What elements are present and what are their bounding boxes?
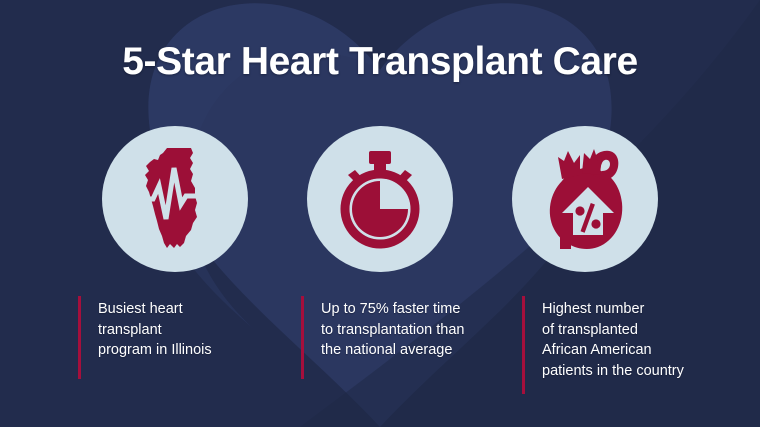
icon-circle-row	[0, 126, 760, 272]
anatomical-heart-percent-arrow-icon	[512, 126, 658, 272]
stat-icon-circle-african-american-patients	[512, 126, 658, 272]
stat-label: Highest number of transplanted African A…	[542, 296, 684, 381]
stat-block-busiest-program: Busiest heart transplant program in Illi…	[78, 296, 212, 379]
stat-label: Busiest heart transplant program in Illi…	[98, 296, 212, 361]
stat-block-faster-time: Up to 75% faster time to transplantation…	[301, 296, 465, 379]
accent-bar	[78, 296, 81, 379]
accent-bar	[522, 296, 525, 394]
accent-bar	[301, 296, 304, 379]
stat-icon-circle-busiest-program	[102, 126, 248, 272]
stat-block-african-american-patients: Highest number of transplanted African A…	[522, 296, 684, 394]
infographic-canvas: 5-Star Heart Transplant Care	[0, 0, 760, 427]
stopwatch-icon	[307, 126, 453, 272]
illinois-heartbeat-icon	[102, 126, 248, 272]
page-title: 5-Star Heart Transplant Care	[0, 40, 760, 84]
stat-label: Up to 75% faster time to transplantation…	[321, 296, 465, 361]
stat-icon-circle-faster-time	[307, 126, 453, 272]
stat-text-row: Busiest heart transplant program in Illi…	[0, 296, 760, 396]
